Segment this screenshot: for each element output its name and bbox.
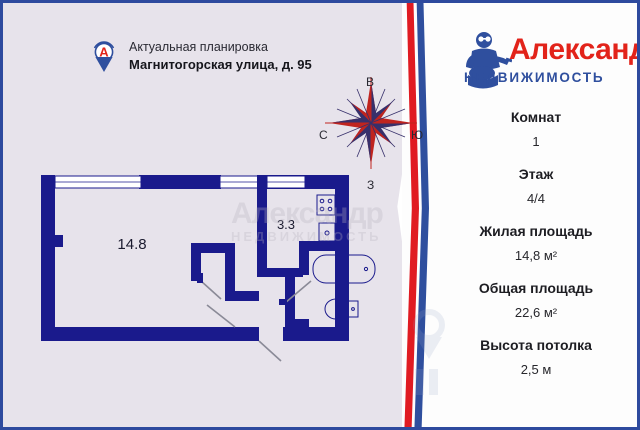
spec-label-rooms: Комнат <box>433 109 639 125</box>
spec-value-rooms: 1 <box>433 134 639 149</box>
room-area-living: 14.8 <box>117 236 146 253</box>
room-area-kitchen: 3.3 <box>277 217 295 232</box>
plan-address: Магнитогорская улица, д. 95 <box>129 56 312 74</box>
spec-label-living-area: Жилая площадь <box>433 223 639 239</box>
compass-label-east: Ю <box>411 128 423 142</box>
compass-label-north: В <box>366 75 374 89</box>
spec-value-ceiling-height: 2,5 м <box>433 362 639 377</box>
spec-label-total-area: Общая площадь <box>433 280 639 296</box>
plan-header: A Актуальная планировка Магнитогорская у… <box>91 39 312 75</box>
spec-label-ceiling-height: Высота потолка <box>433 337 639 353</box>
spec-value-total-area: 22,6 м² <box>433 305 639 320</box>
property-specs-list: Комнат 1 Этаж 4/4 Жилая площадь 14,8 м² … <box>433 109 639 394</box>
logo-brand-text: Александр <box>509 33 640 67</box>
company-logo: Александр НЕДВИЖИМОСТЬ <box>462 29 634 103</box>
floorplan-listing-card: A Актуальная планировка Магнитогорская у… <box>0 0 640 430</box>
floorplan-drawing: 14.8 3.3 <box>35 163 395 363</box>
spec-label-floor: Этаж <box>433 166 639 182</box>
spec-value-living-area: 14,8 м² <box>433 248 639 263</box>
compass-label-west: С <box>319 128 328 142</box>
map-pin-letter-a-icon: A <box>91 39 117 75</box>
plan-title-block: Актуальная планировка Магнитогорская ули… <box>129 39 312 74</box>
logo-tagline-text: НЕДВИЖИМОСТЬ <box>464 70 604 86</box>
spec-value-floor: 4/4 <box>433 191 639 206</box>
plan-subtitle: Актуальная планировка <box>129 39 312 56</box>
